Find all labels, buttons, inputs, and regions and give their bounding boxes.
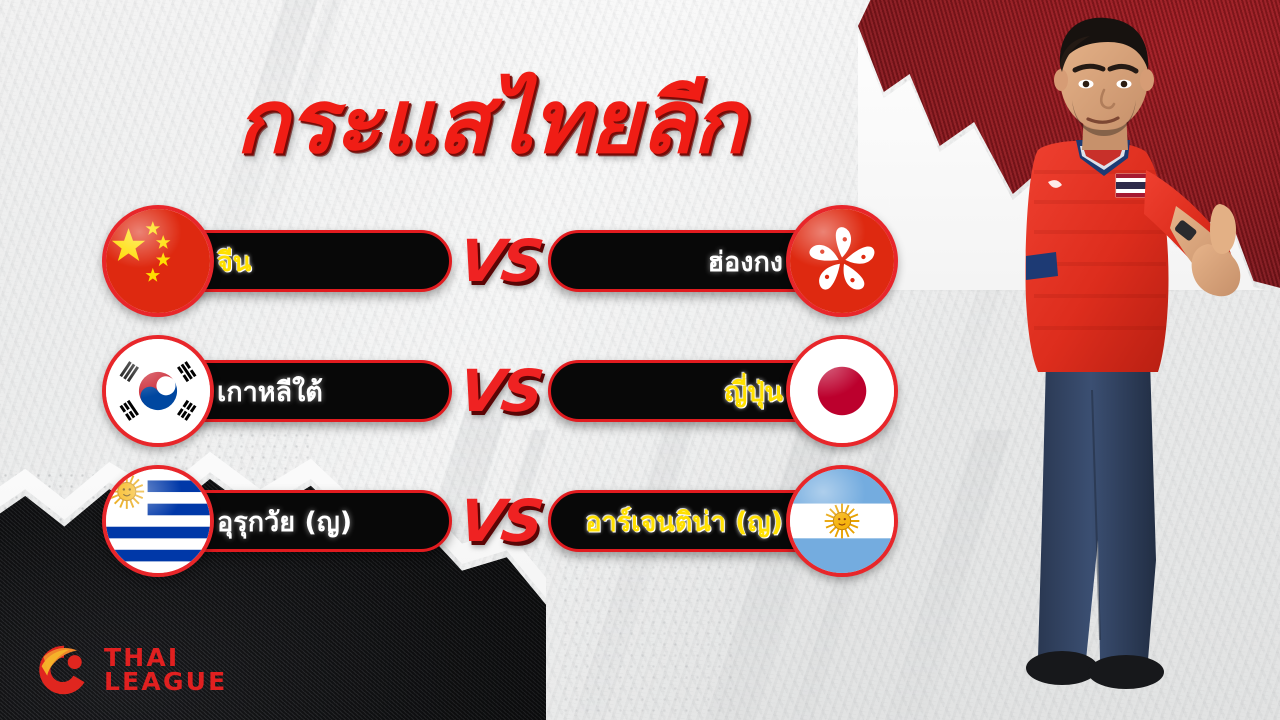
- poster-canvas: กระแสไทยลีก จีน: [0, 0, 1280, 720]
- thai-league-mark-icon: [36, 642, 92, 698]
- argentina-flag-icon: [786, 465, 898, 577]
- south-korea-flag-icon: [102, 335, 214, 447]
- vs-label: VS: [448, 487, 552, 555]
- home-team-name: อุรุกวัย (ญ): [217, 500, 352, 543]
- presenter-photo: [980, 0, 1280, 720]
- match-row: อุรุกวัย (ญ) VS อาร์เจนติน่า (ญ): [0, 456, 1000, 586]
- home-team-name: จีน: [217, 240, 251, 283]
- thai-league-wordmark: THAI LEAGUE: [104, 646, 227, 694]
- page-title: กระแสไทยลีก: [0, 76, 980, 168]
- away-team-name: ญี่ปุ่น: [724, 370, 783, 413]
- uruguay-flag-icon: [102, 465, 214, 577]
- away-team-name: อาร์เจนติน่า (ญ): [585, 500, 783, 543]
- vs-label: VS: [448, 227, 552, 295]
- away-team-name: ฮ่องกง: [708, 240, 783, 283]
- match-list: จีน VS ฮ่องกง: [0, 196, 1000, 586]
- vs-label: VS: [448, 357, 552, 425]
- logo-line-2: LEAGUE: [104, 670, 227, 694]
- thai-league-logo[interactable]: THAI LEAGUE: [36, 642, 227, 698]
- japan-flag-icon: [786, 335, 898, 447]
- home-team-name: เกาหลีใต้: [217, 370, 323, 413]
- china-flag-icon: [102, 205, 214, 317]
- match-row: เกาหลีใต้ VS ญี่ปุ่น: [0, 326, 1000, 456]
- match-row: จีน VS ฮ่องกง: [0, 196, 1000, 326]
- hong-kong-flag-icon: [786, 205, 898, 317]
